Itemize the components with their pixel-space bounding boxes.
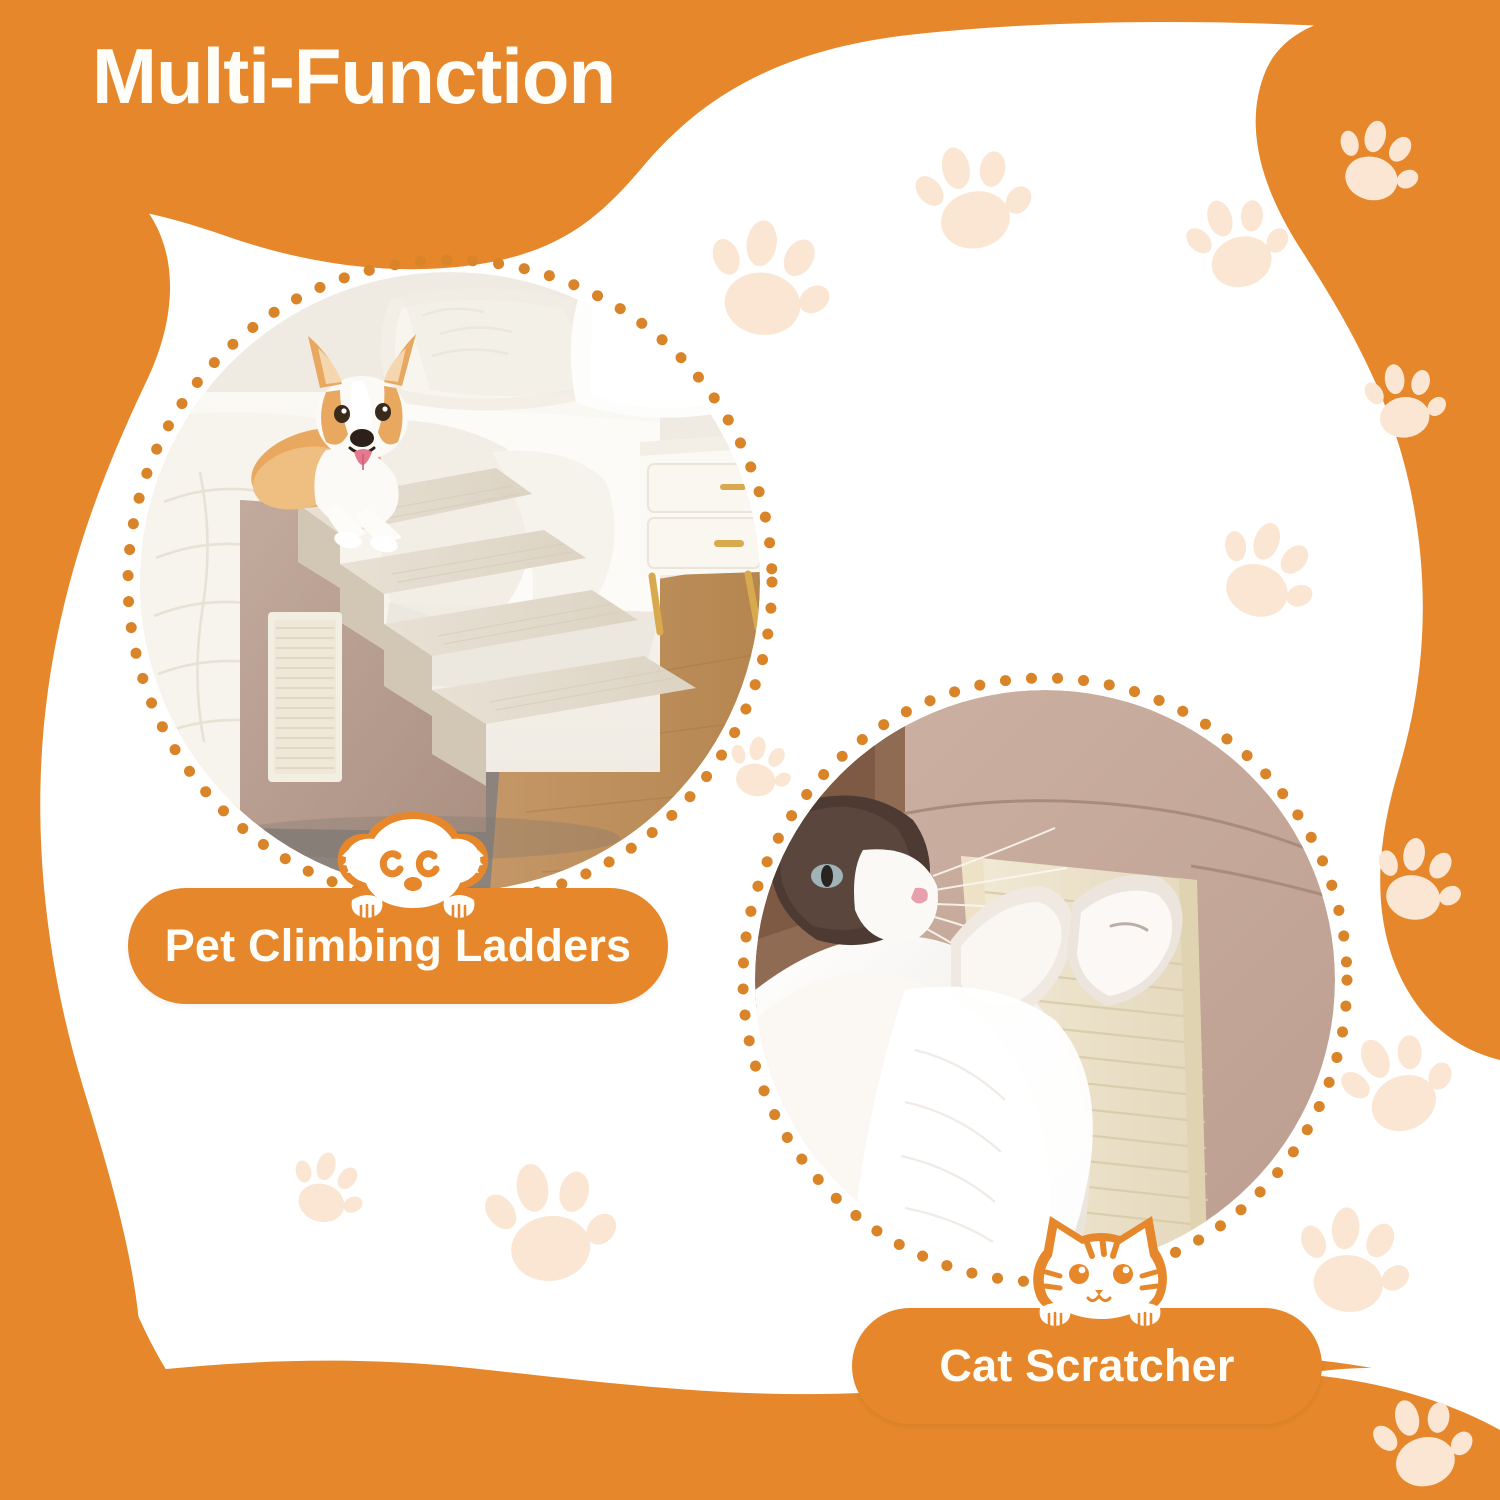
page-title: Multi-Function <box>92 36 615 118</box>
badge-pet-climbing-ladders[interactable]: Pet Climbing Ladders <box>128 888 668 1004</box>
product-feature-graphic: Multi-Function <box>0 0 1500 1500</box>
badge-label-pet-climbing-ladders: Pet Climbing Ladders <box>165 920 632 972</box>
photo-pet-climbing-ladders <box>140 272 760 892</box>
badge-cat-scratcher[interactable]: Cat Scratcher <box>852 1308 1322 1424</box>
photo-cat-scratcher <box>755 690 1335 1270</box>
badge-label-cat-scratcher: Cat Scratcher <box>939 1340 1234 1392</box>
